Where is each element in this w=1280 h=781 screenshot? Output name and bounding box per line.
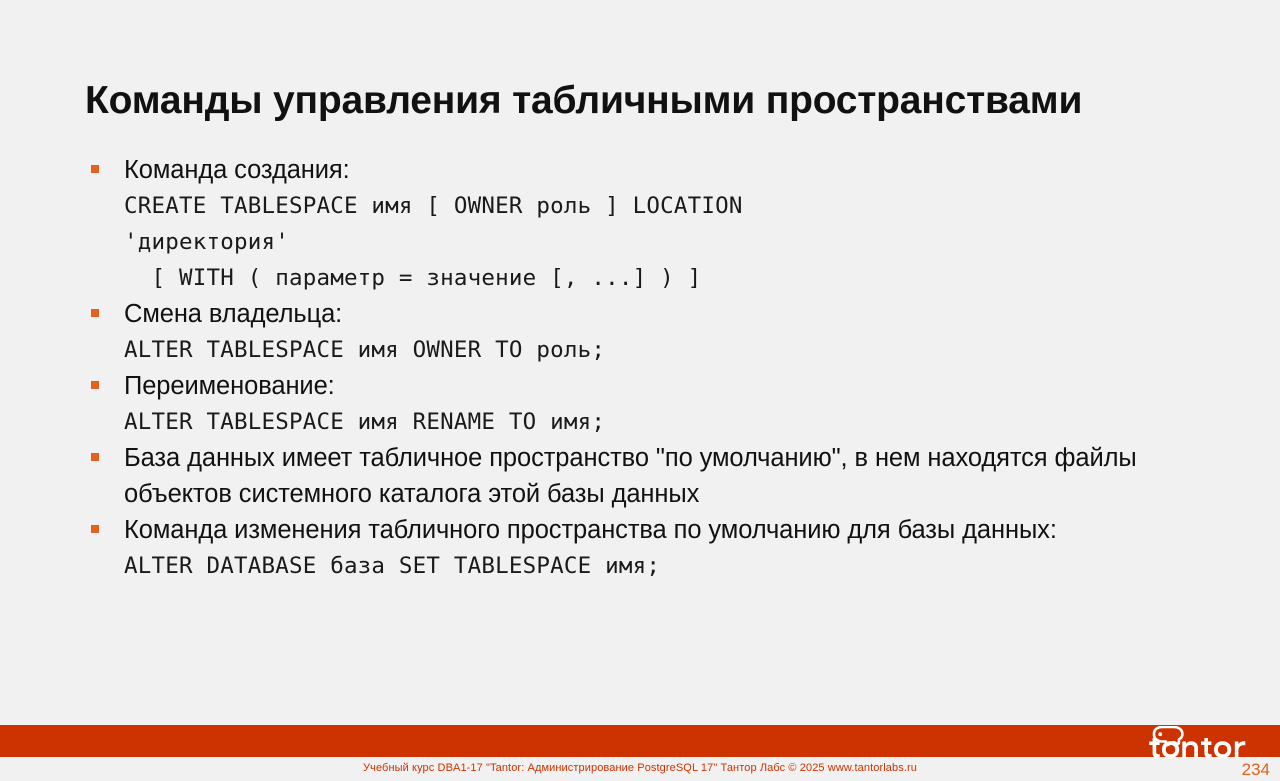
page-title: Команды управления табличными пространст… [85, 78, 1215, 124]
list-item-label: Переименование: [124, 368, 1210, 404]
list-item-label: База данных имеет табличное пространство… [124, 440, 1210, 512]
tantor-logo [1146, 726, 1258, 760]
code-line: CREATE TABLESPACE имя [ OWNER роль ] LOC… [124, 188, 1210, 224]
bullet-marker-icon [91, 165, 99, 173]
list-item: Смена владельца: ALTER TABLESPACE имя OW… [85, 296, 1210, 368]
bullet-marker-icon [91, 309, 99, 317]
list-item: Переименование: ALTER TABLESPACE имя REN… [85, 368, 1210, 440]
bullet-marker-icon [91, 525, 99, 533]
list-item-label: Смена владельца: [124, 296, 1210, 332]
list-item-label: Команда изменения табличного пространств… [124, 512, 1210, 548]
footer-credit: Учебный курс DBA1-17 "Tantor: Администри… [0, 761, 1280, 775]
footer-accent-bar [0, 725, 1280, 757]
code-line: ALTER TABLESPACE имя RENAME TO имя; [124, 404, 1210, 440]
bullet-marker-icon [91, 453, 99, 461]
list-item-label: Команда создания: [124, 152, 1210, 188]
list-item: Команда изменения табличного пространств… [85, 512, 1210, 584]
code-line: 'директория' [124, 224, 1210, 260]
code-line: ALTER DATABASE база SET TABLESPACE имя; [124, 548, 1210, 584]
list-item: База данных имеет табличное пространство… [85, 440, 1210, 512]
page-number: 234 [1242, 760, 1270, 780]
slide: Команды управления табличными пространст… [0, 0, 1280, 781]
code-line: [ WITH ( параметр = значение [, ...] ) ] [124, 260, 1210, 296]
code-line: ALTER TABLESPACE имя OWNER TO роль; [124, 332, 1210, 368]
bullet-list: Команда создания: CREATE TABLESPACE имя … [85, 152, 1210, 584]
list-item: Команда создания: CREATE TABLESPACE имя … [85, 152, 1210, 296]
bullet-marker-icon [91, 381, 99, 389]
